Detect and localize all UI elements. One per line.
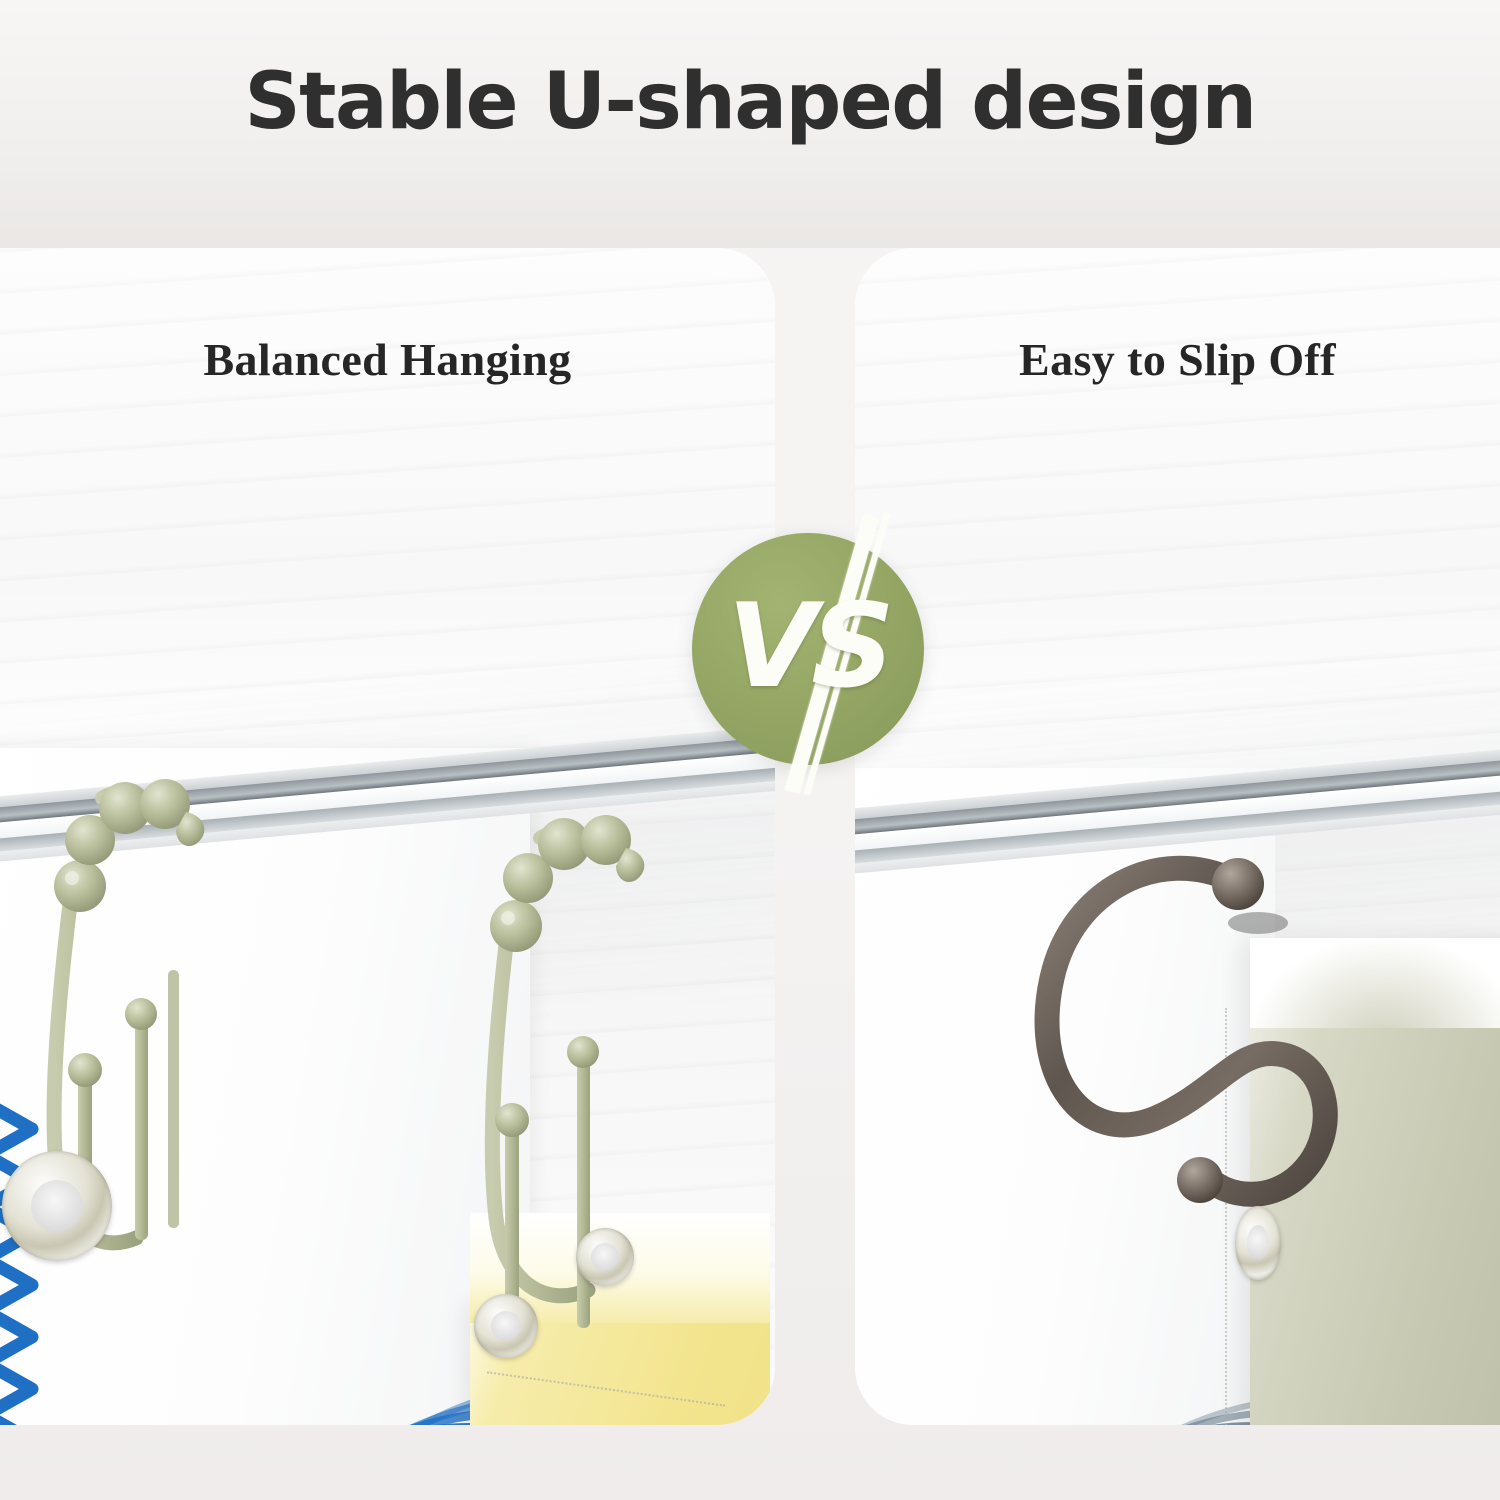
vs-badge: VS	[692, 533, 924, 765]
panel-easy-to-slip-off	[855, 248, 1500, 1425]
product-comparison-image: Stable U-shaped design	[0, 0, 1500, 1500]
caption-balanced-hanging: Balanced Hanging	[0, 333, 775, 386]
vs-label: VS	[692, 533, 924, 765]
panel-balanced-hanging	[0, 248, 775, 1425]
curtain-grommet	[1235, 1206, 1281, 1280]
curtain-grommet	[576, 1228, 634, 1286]
curtain-grommet	[2, 1151, 112, 1261]
curtain-grommet	[474, 1294, 538, 1358]
caption-easy-to-slip-off: Easy to Slip Off	[855, 333, 1500, 386]
s-shaped-hook	[1010, 828, 1410, 1328]
page-title: Stable U-shaped design	[0, 62, 1500, 144]
